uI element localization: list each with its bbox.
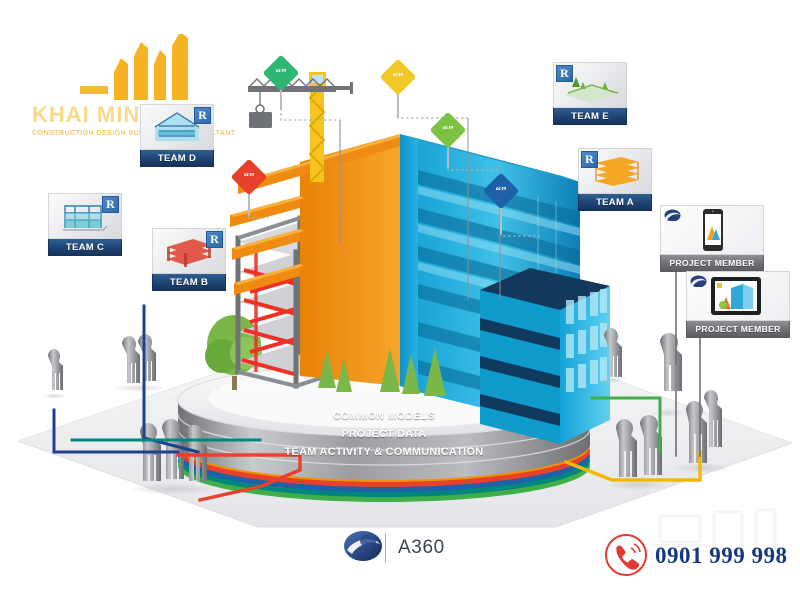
team-card-team-b[interactable]: R TEAM B bbox=[152, 228, 226, 291]
a360-swirl-icon bbox=[664, 209, 681, 221]
team-a-label: TEAM A bbox=[578, 194, 652, 211]
platform-band-project-data: PROJECT DATA bbox=[284, 428, 484, 440]
marker-stem bbox=[280, 88, 282, 110]
project-member-phone-label: PROJECT MEMBER bbox=[660, 255, 764, 272]
a360-product-label: A360 bbox=[398, 537, 445, 559]
project-member-phone-thumbnail bbox=[660, 205, 764, 255]
project-member-card-phone[interactable]: PROJECT MEMBER bbox=[660, 205, 764, 272]
team-c-label: TEAM C bbox=[48, 239, 122, 256]
team-d-label: TEAM D bbox=[140, 150, 214, 167]
marker-red-left[interactable]: “” bbox=[231, 159, 268, 196]
brand-logo-icon bbox=[30, 34, 230, 104]
team-card-team-a[interactable]: R TEAM A bbox=[578, 148, 652, 211]
contact-phone-number[interactable]: 0901 999 998 bbox=[655, 543, 788, 569]
marker-green-crane[interactable]: “” bbox=[263, 55, 300, 92]
team-e-label: TEAM E bbox=[553, 108, 627, 125]
revit-badge-icon: R bbox=[581, 151, 598, 168]
team-c-thumbnail: R bbox=[48, 193, 122, 239]
team-card-team-e[interactable]: R TEAM E bbox=[553, 62, 627, 125]
marker-yellow-top[interactable]: “” bbox=[380, 59, 417, 96]
revit-badge-icon: R bbox=[206, 231, 223, 248]
revit-badge-icon: R bbox=[194, 107, 211, 124]
team-b-thumbnail: R bbox=[152, 228, 226, 274]
team-a-thumbnail: R bbox=[578, 148, 652, 194]
bim-collaboration-diagram: KHAI MINH JSC CONSTRUCTION DESIGN SUPERV… bbox=[0, 0, 800, 600]
team-d-thumbnail: R bbox=[140, 104, 214, 150]
platform-band-team-activity: TEAM ACTIVITY & COMMUNICATION bbox=[234, 446, 534, 458]
phone-ringing-icon bbox=[606, 535, 646, 575]
team-e-thumbnail: R bbox=[553, 62, 627, 108]
team-b-label: TEAM B bbox=[152, 274, 226, 291]
revit-badge-icon: R bbox=[556, 65, 573, 82]
platform-band-common-models: COMMON MODELS bbox=[284, 410, 484, 422]
revit-badge-icon: R bbox=[102, 196, 119, 213]
a360-divider bbox=[385, 533, 386, 563]
marker-green-roof[interactable]: “” bbox=[430, 112, 467, 149]
a360-swirl-icon bbox=[344, 531, 382, 561]
marker-blue-right[interactable]: “” bbox=[483, 173, 520, 210]
project-member-tablet-label: PROJECT MEMBER bbox=[686, 321, 790, 338]
project-member-card-tablet[interactable]: PROJECT MEMBER bbox=[686, 271, 790, 338]
a360-swirl-icon bbox=[690, 275, 707, 287]
team-card-team-c[interactable]: R TEAM C bbox=[48, 193, 122, 256]
project-member-tablet-thumbnail bbox=[686, 271, 790, 321]
team-card-team-d[interactable]: R TEAM D bbox=[140, 104, 214, 167]
